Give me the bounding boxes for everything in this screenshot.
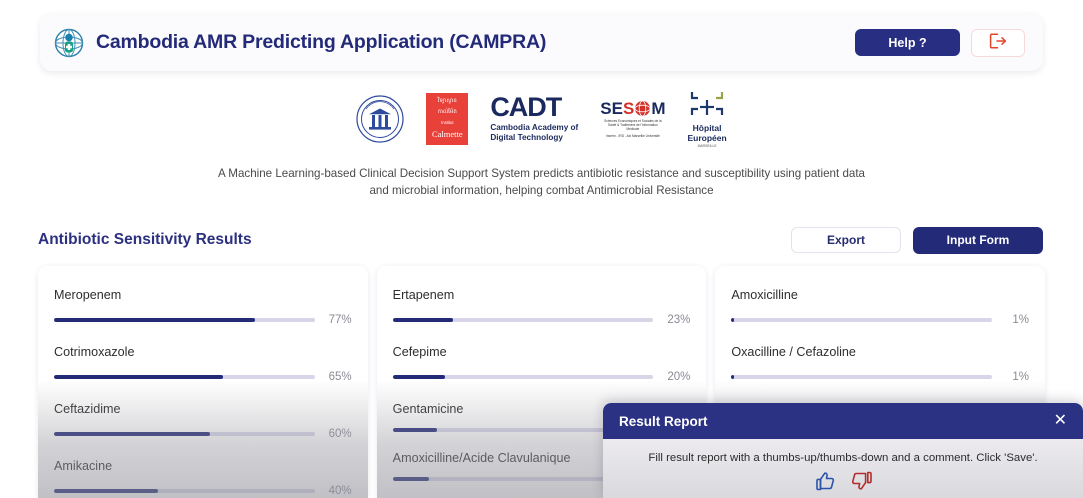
- sesim-logo: SES M Sciences Economiques et Sociales d…: [600, 100, 665, 138]
- cadt-wordmark: CADT: [490, 95, 561, 121]
- list-item[interactable]: Ceftazidime 60%: [54, 402, 352, 440]
- sensitivity-bar-fill: [54, 375, 223, 379]
- antibiotic-name: Cefepime: [393, 345, 691, 359]
- antibiotic-name: Cotrimoxazole: [54, 345, 352, 359]
- list-item[interactable]: Cotrimoxazole 65%: [54, 345, 352, 383]
- header-actions: Help ?: [855, 29, 1025, 57]
- antibiotic-name: Meropenem: [54, 288, 352, 302]
- app-root: Cambodia AMR Predicting Application (CAM…: [0, 0, 1083, 498]
- page-title: Cambodia AMR Predicting Application (CAM…: [96, 31, 546, 54]
- sensitivity-bar-fill: [393, 375, 445, 379]
- partner-logos: វិទ្យាស្ថាន កាល់ម៉ែត Institut Calmette C…: [0, 90, 1083, 148]
- sesim-s: S: [623, 100, 634, 117]
- list-item[interactable]: Amoxicilline 1%: [731, 288, 1029, 326]
- cadt-logo: CADT Cambodia Academy of Digital Technol…: [490, 95, 578, 143]
- feedback-thumbs: [617, 471, 1069, 491]
- list-item[interactable]: Ertapenem 23%: [393, 288, 691, 326]
- sensitivity-bar-fill: [393, 477, 429, 481]
- sensitivity-percent: 40%: [324, 485, 352, 497]
- app-header: Cambodia AMR Predicting Application (CAM…: [40, 14, 1043, 71]
- sensitivity-bar: [731, 318, 992, 322]
- results-toolbar: Antibiotic Sensitivity Results Export In…: [38, 224, 1043, 256]
- logout-button[interactable]: [971, 29, 1025, 57]
- sensitivity-percent: 23%: [662, 314, 690, 326]
- list-item[interactable]: Cefepime 20%: [393, 345, 691, 383]
- sensitivity-bar: [393, 375, 654, 379]
- list-item[interactable]: Meropenem 77%: [54, 288, 352, 326]
- sensitivity-bar-fill: [54, 489, 158, 493]
- institut-pasteur-calmette-logo: វិទ្យាស្ថាន កាល់ម៉ែត Institut Calmette: [426, 93, 468, 145]
- dialog-title: Result Report: [619, 414, 708, 429]
- globe-medical-icon: [54, 28, 84, 58]
- sensitivity-percent: 65%: [324, 371, 352, 383]
- sesim-affiliations: Inserm - IRD - Aix Marseille Université: [606, 134, 660, 138]
- antibiotic-name: Oxacilline / Cefazoline: [731, 345, 1029, 359]
- results-section-title: Antibiotic Sensitivity Results: [38, 231, 252, 249]
- hopital-europeen-logo: Hôpital Européen MARSEILLE: [687, 90, 726, 148]
- list-item[interactable]: Oxacilline / Cefazoline 1%: [731, 345, 1029, 383]
- sensitivity-bar-fill: [393, 428, 437, 432]
- antibiotic-name: Amikacine: [54, 459, 352, 473]
- list-item[interactable]: Amikacine 40%: [54, 459, 352, 497]
- dialog-header: Result Report ✕: [603, 403, 1083, 439]
- calmette-khmer-line2: កាល់ម៉ែត: [438, 109, 457, 116]
- close-icon[interactable]: ✕: [1054, 413, 1067, 429]
- logout-icon: [989, 33, 1007, 52]
- sensitivity-percent: 60%: [324, 428, 352, 440]
- sensitivity-bar: [731, 375, 992, 379]
- brand: Cambodia AMR Predicting Application (CAM…: [54, 28, 546, 58]
- sesim-se: SE: [600, 100, 623, 117]
- sesim-globe-icon: [634, 100, 651, 117]
- thumbs-up-icon[interactable]: [814, 471, 836, 491]
- sensitivity-bar-fill: [54, 318, 255, 322]
- sensitivity-percent: 1%: [1001, 314, 1029, 326]
- results-actions: Export Input Form: [791, 227, 1043, 254]
- sensitivity-percent: 1%: [1001, 371, 1029, 383]
- calmette-institut-label: Institut: [441, 120, 453, 125]
- sensitivity-bar: [54, 375, 315, 379]
- antibiotic-name: Ertapenem: [393, 288, 691, 302]
- cadt-sub-line2: Digital Technology: [490, 133, 578, 143]
- sensitivity-bar-fill: [731, 318, 734, 322]
- result-report-dialog: Result Report ✕ Fill result report with …: [603, 403, 1083, 498]
- export-button[interactable]: Export: [791, 227, 901, 253]
- sesim-m: M: [651, 100, 665, 117]
- sensitivity-bar-fill: [393, 318, 453, 322]
- input-form-button[interactable]: Input Form: [913, 227, 1043, 254]
- dialog-instruction: Fill result report with a thumbs-up/thum…: [617, 452, 1069, 464]
- app-description: A Machine Learning-based Clinical Decisi…: [212, 166, 872, 200]
- sensitivity-bar: [393, 318, 654, 322]
- sensitivity-percent: 77%: [324, 314, 352, 326]
- sensitivity-bar: [54, 489, 315, 493]
- sensitivity-bar: [54, 432, 315, 436]
- hopital-city: MARSEILLE: [698, 144, 717, 148]
- calmette-khmer-line1: វិទ្យាស្ថាន: [438, 98, 457, 105]
- hopital-mark-icon: [690, 90, 724, 122]
- sensitivity-percent: 20%: [662, 371, 690, 383]
- hopital-line2: Européen: [687, 134, 726, 144]
- sensitivity-bar-fill: [54, 432, 210, 436]
- university-of-health-sciences-seal: [356, 95, 404, 143]
- dialog-body: Fill result report with a thumbs-up/thum…: [603, 439, 1083, 498]
- antibiotic-name: Amoxicilline: [731, 288, 1029, 302]
- calmette-name: Calmette: [432, 129, 463, 140]
- antibiotic-name: Ceftazidime: [54, 402, 352, 416]
- cadt-sub-line1: Cambodia Academy of: [490, 123, 578, 133]
- sesim-fullname: Sciences Economiques et Sociales de la S…: [604, 119, 662, 132]
- thumbs-down-icon[interactable]: [850, 471, 872, 491]
- sensitivity-bar: [54, 318, 315, 322]
- sensitivity-bar-fill: [731, 375, 734, 379]
- help-button[interactable]: Help ?: [855, 29, 960, 56]
- results-column: Meropenem 77% Cotrimoxazole 65% Ceftazid…: [38, 266, 368, 498]
